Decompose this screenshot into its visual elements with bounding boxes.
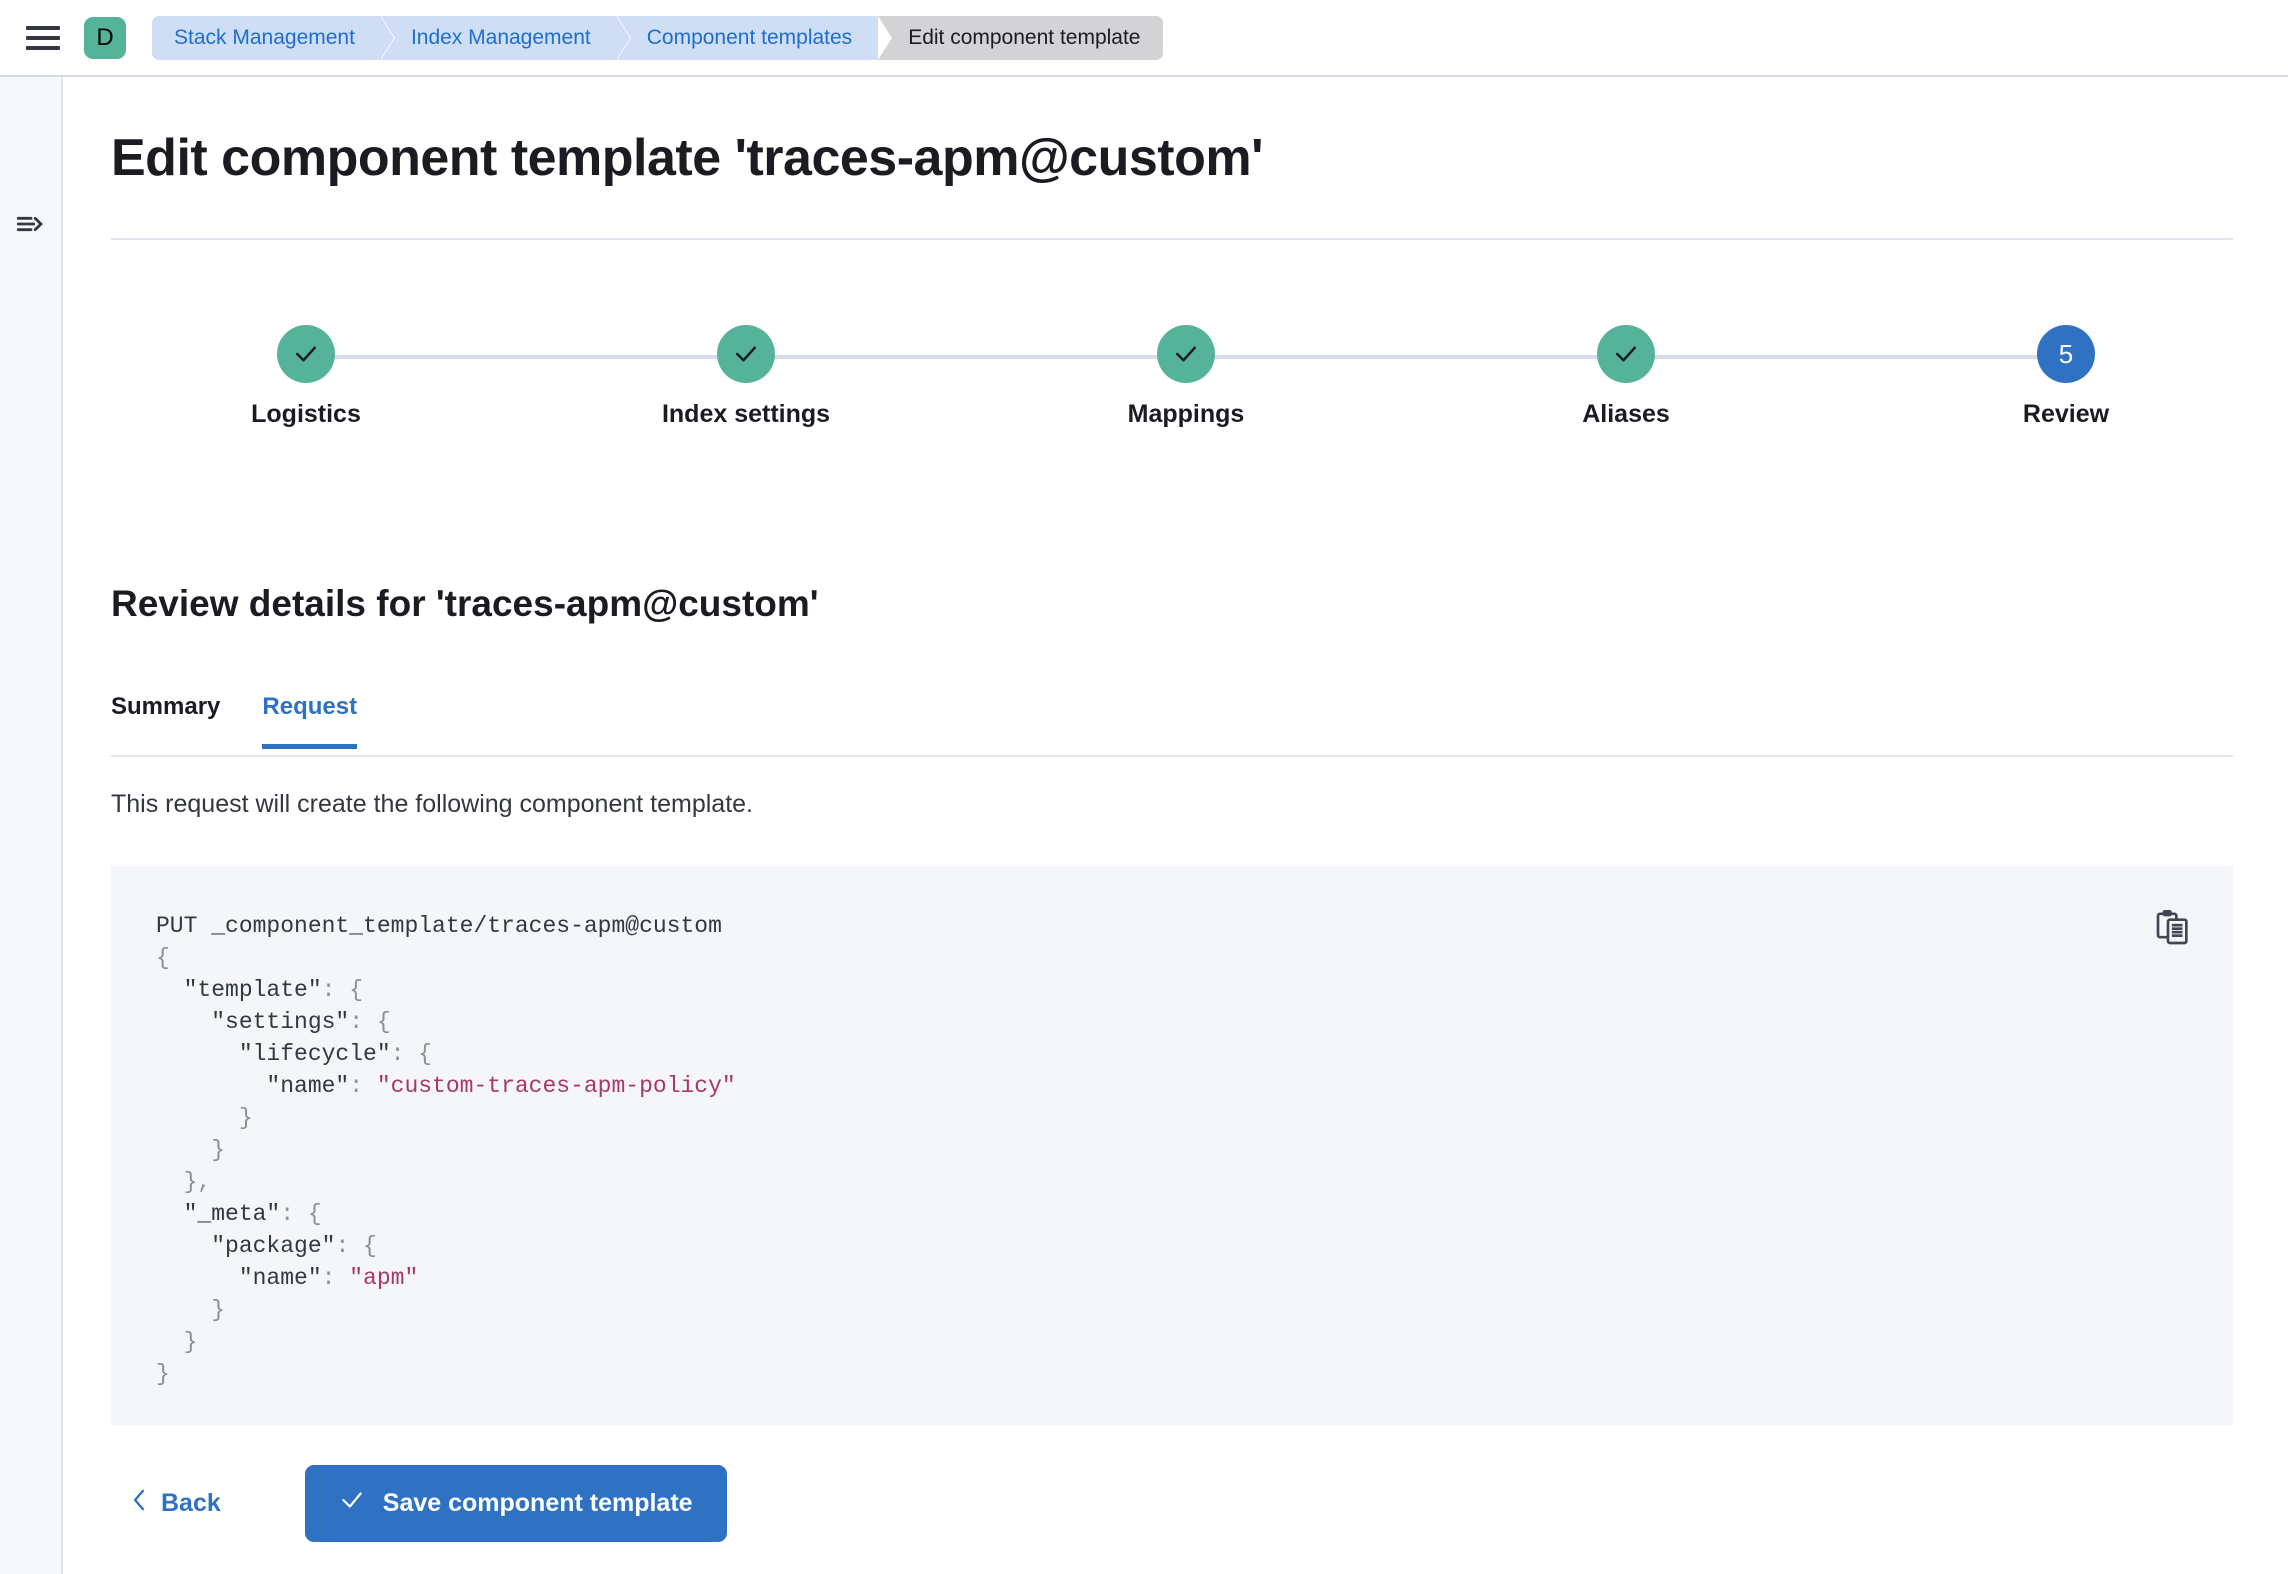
stepper-step[interactable]: Mappings [1046,325,1326,429]
title-divider [111,238,2233,240]
avatar[interactable]: D [84,17,126,59]
code-line: "package": { [156,1230,736,1262]
code-line: "_meta": { [156,1198,736,1230]
step-check-icon[interactable] [277,325,335,383]
code-token-key: "lifecycle" [156,1041,391,1067]
code-token-punct: } [156,1361,170,1387]
step-number-badge[interactable]: 5 [2037,325,2095,383]
wizard-stepper: LogisticsIndex settingsMappingsAliases5R… [111,325,2233,435]
main-content: Edit component template 'traces-apm@cust… [65,77,2288,1574]
copy-to-clipboard-icon[interactable] [2153,908,2193,948]
code-line: } [156,1326,736,1358]
code-token-punct: : [322,1265,350,1291]
request-description: This request will create the following c… [111,790,753,819]
step-check-icon[interactable] [1597,325,1655,383]
breadcrumb: Stack ManagementIndex ManagementComponen… [152,16,1163,60]
stepper-step-label: Aliases [1486,400,1766,429]
code-token-key: "name" [156,1073,349,1099]
top-header: D Stack ManagementIndex ManagementCompon… [0,0,2288,77]
check-icon [339,1487,365,1520]
code-line: } [156,1358,736,1390]
code-token-punct: } [156,1105,253,1131]
code-token-punct: } [156,1137,225,1163]
stepper-step[interactable]: Logistics [166,325,446,429]
code-token-punct: } [156,1297,225,1323]
code-line: } [156,1102,736,1134]
section-title: Review details for 'traces-apm@custom' [111,583,819,625]
stepper-step-label: Mappings [1046,400,1326,429]
request-code: PUT _component_template/traces-apm@custo… [156,910,736,1390]
hamburger-bar [26,36,60,40]
code-token-key: "name" [156,1265,322,1291]
stepper-step-label: Index settings [606,400,886,429]
request-code-block: PUT _component_template/traces-apm@custo… [111,866,2233,1426]
expand-sidebar-icon[interactable] [14,207,48,241]
code-token-punct: : { [322,977,363,1003]
code-token-punct: } [156,1329,197,1355]
code-token-punct: : { [349,1009,390,1035]
back-button-label: Back [161,1489,221,1518]
code-token-punct: : [349,1073,377,1099]
code-line: "settings": { [156,1006,736,1038]
code-token-key: "settings" [156,1009,349,1035]
code-line: } [156,1134,736,1166]
left-nav-rail [0,77,63,1574]
code-line: PUT _component_template/traces-apm@custo… [156,910,736,942]
code-token-plain: PUT _component_template/traces-apm@custo… [156,913,722,939]
code-token-str: "apm" [349,1265,418,1291]
stepper-step[interactable]: Index settings [606,325,886,429]
code-token-punct: : { [280,1201,321,1227]
stepper-step[interactable]: 5Review [1926,325,2206,429]
stepper-step-label: Review [1926,400,2206,429]
page-title: Edit component template 'traces-apm@cust… [111,128,1263,188]
hamburger-menu-icon[interactable] [26,23,60,53]
hamburger-bar [26,26,60,30]
code-token-punct: : { [335,1233,376,1259]
hamburger-bar [26,46,60,50]
code-line: "template": { [156,974,736,1006]
wizard-footer: Back Save component template [111,1465,727,1542]
tab-summary[interactable]: Summary [111,685,220,747]
save-button-label: Save component template [383,1489,693,1518]
breadcrumb-item[interactable]: Index Management [381,16,617,60]
review-tabs: SummaryRequest [111,685,2233,757]
code-token-key: "package" [156,1233,335,1259]
tab-request[interactable]: Request [262,685,357,747]
save-component-template-button[interactable]: Save component template [305,1465,727,1542]
code-token-punct: { [156,945,170,971]
chevron-left-icon [129,1487,149,1520]
code-token-key: "_meta" [156,1201,280,1227]
stepper-step-label: Logistics [166,400,446,429]
step-check-icon[interactable] [1157,325,1215,383]
code-token-punct: : { [391,1041,432,1067]
step-number: 5 [2059,339,2073,370]
code-token-punct: }, [156,1169,211,1195]
code-token-str: "custom-traces-apm-policy" [377,1073,736,1099]
stepper-step[interactable]: Aliases [1486,325,1766,429]
code-line: "name": "apm" [156,1262,736,1294]
code-line: "lifecycle": { [156,1038,736,1070]
breadcrumb-item[interactable]: Component templates [617,16,878,60]
step-check-icon[interactable] [717,325,775,383]
breadcrumb-item[interactable]: Stack Management [152,16,381,60]
code-line: "name": "custom-traces-apm-policy" [156,1070,736,1102]
code-line: } [156,1294,736,1326]
breadcrumb-item: Edit component template [878,16,1162,60]
code-line: }, [156,1166,736,1198]
code-token-key: "template" [156,977,322,1003]
back-button[interactable]: Back [111,1477,239,1530]
code-line: { [156,942,736,974]
